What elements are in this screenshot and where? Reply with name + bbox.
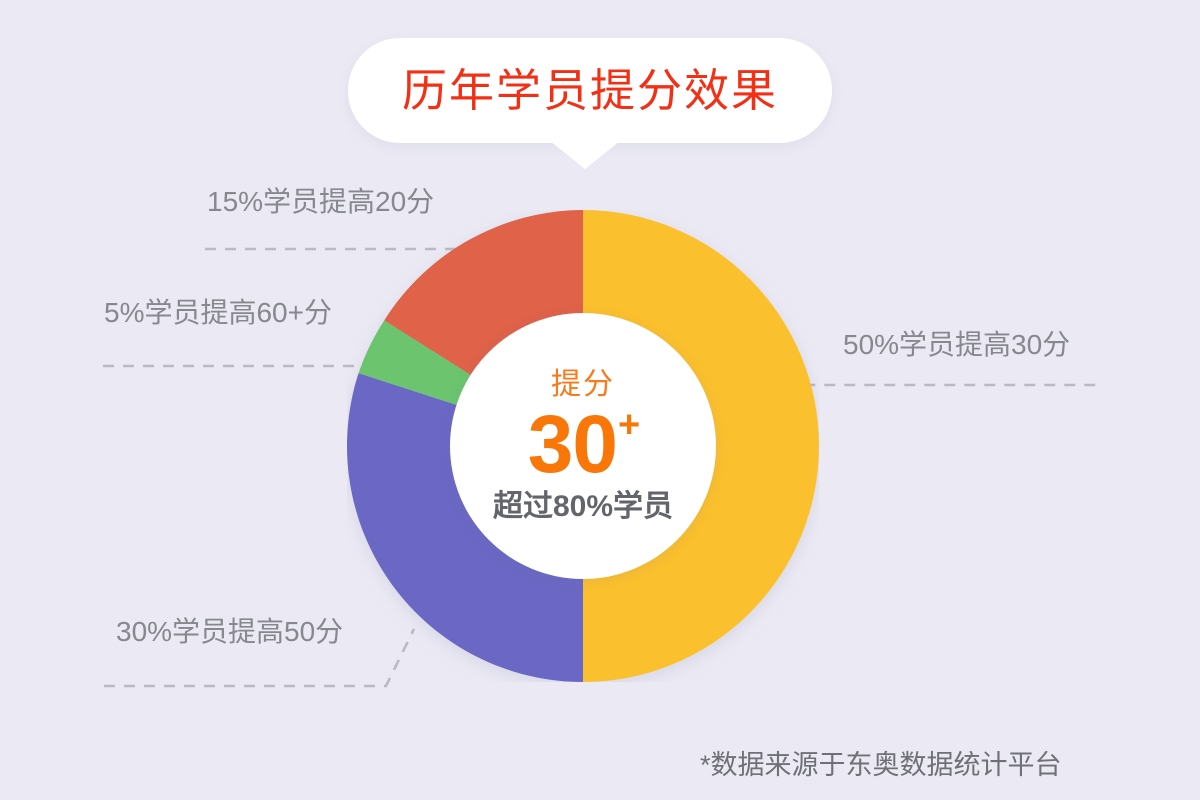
callout-label-improve-50: 30%学员提高50分	[116, 618, 343, 646]
center-value: 30	[528, 399, 617, 490]
center-subtext: 超过80%学员	[493, 492, 673, 522]
center-value-superscript: +	[618, 404, 639, 446]
callout-label-improve-20: 15%学员提高20分	[207, 188, 434, 216]
donut-center-hole: 提分 30+ 超过80%学员	[450, 313, 716, 579]
donut-chart: 提分 30+ 超过80%学员	[347, 210, 819, 682]
callout-label-improve-30: 50%学员提高30分	[843, 331, 1070, 359]
callout-label-improve-60: 5%学员提高60+分	[104, 299, 332, 327]
data-source-footnote: *数据来源于东奥数据统计平台	[700, 752, 1062, 779]
page-title: 历年学员提分效果	[402, 68, 778, 113]
center-label: 提分	[551, 370, 615, 400]
title-bubble-tail	[550, 141, 620, 169]
center-value-group: 30+	[528, 404, 638, 486]
infographic-canvas: 历年学员提分效果	[0, 0, 1200, 800]
title-bubble: 历年学员提分效果	[348, 38, 832, 143]
